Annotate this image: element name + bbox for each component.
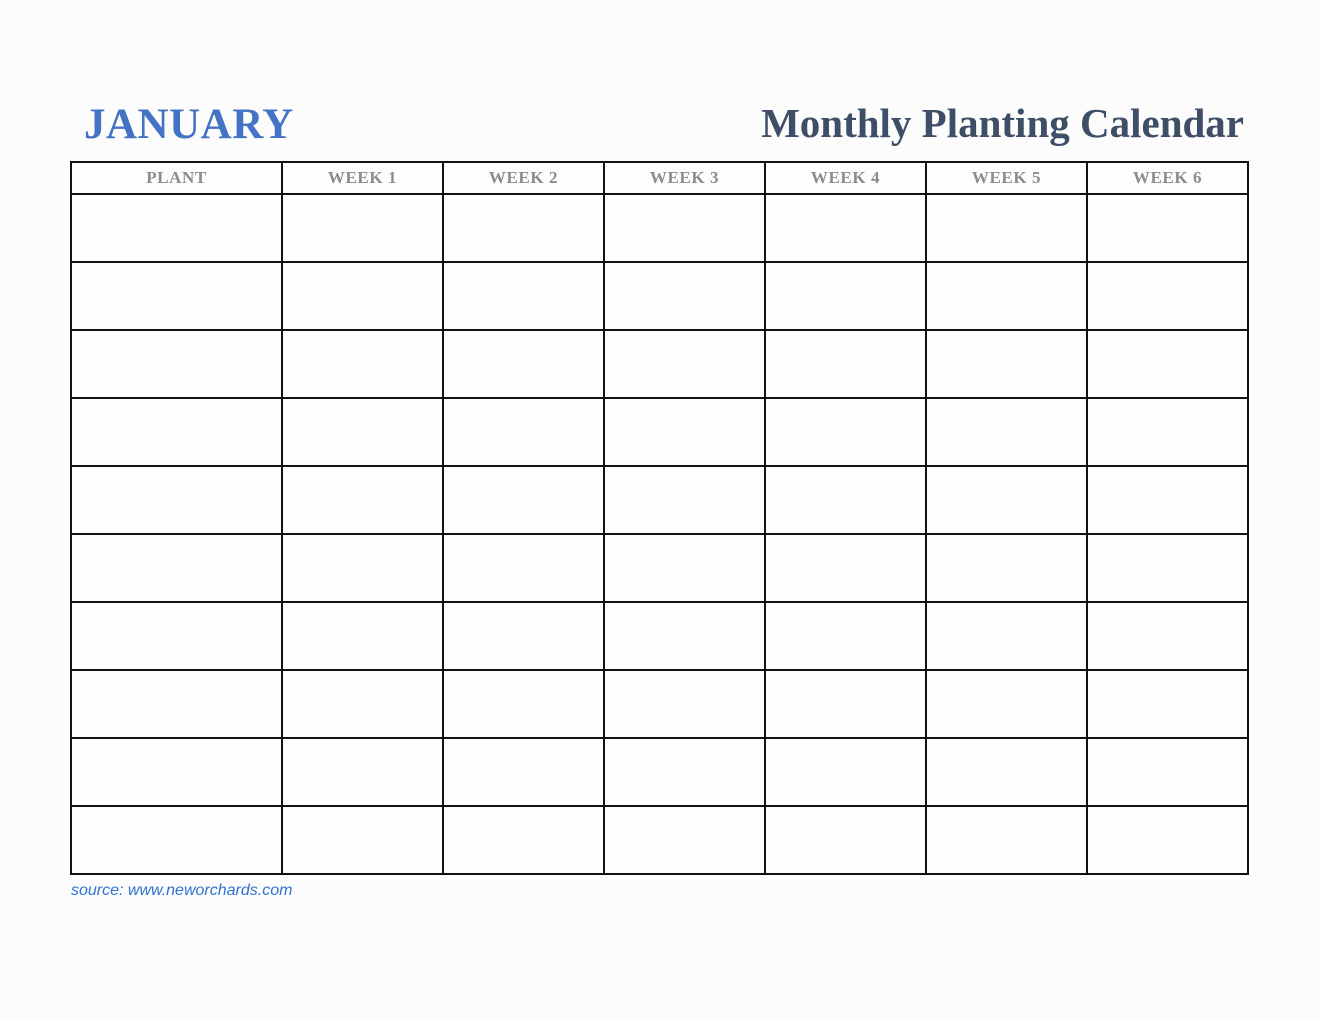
table-row [71, 806, 1248, 874]
column-header-week-3: WEEK 3 [604, 162, 765, 194]
table-header: PLANT WEEK 1 WEEK 2 WEEK 3 WEEK 4 WEEK 5… [71, 162, 1248, 194]
cell-week-5[interactable] [926, 262, 1087, 330]
cell-week-4[interactable] [765, 738, 926, 806]
cell-week-4[interactable] [765, 466, 926, 534]
cell-week-2[interactable] [443, 738, 604, 806]
cell-week-1[interactable] [282, 806, 443, 874]
cell-week-5[interactable] [926, 330, 1087, 398]
cell-week-6[interactable] [1087, 330, 1248, 398]
cell-week-1[interactable] [282, 534, 443, 602]
planting-calendar-table: PLANT WEEK 1 WEEK 2 WEEK 3 WEEK 4 WEEK 5… [70, 161, 1249, 875]
table-header-row: PLANT WEEK 1 WEEK 2 WEEK 3 WEEK 4 WEEK 5… [71, 162, 1248, 194]
cell-week-5[interactable] [926, 738, 1087, 806]
column-header-week-4: WEEK 4 [765, 162, 926, 194]
cell-week-2[interactable] [443, 330, 604, 398]
column-header-plant: PLANT [71, 162, 282, 194]
page-header: JANUARY Monthly Planting Calendar [70, 52, 1248, 148]
cell-week-6[interactable] [1087, 602, 1248, 670]
column-header-week-6: WEEK 6 [1087, 162, 1248, 194]
cell-week-3[interactable] [604, 670, 765, 738]
cell-week-5[interactable] [926, 466, 1087, 534]
cell-week-5[interactable] [926, 806, 1087, 874]
cell-plant[interactable] [71, 194, 282, 262]
cell-week-1[interactable] [282, 670, 443, 738]
cell-week-3[interactable] [604, 466, 765, 534]
cell-week-4[interactable] [765, 602, 926, 670]
cell-week-6[interactable] [1087, 262, 1248, 330]
table-row [71, 602, 1248, 670]
cell-week-1[interactable] [282, 262, 443, 330]
cell-week-3[interactable] [604, 806, 765, 874]
column-header-week-1: WEEK 1 [282, 162, 443, 194]
cell-plant[interactable] [71, 738, 282, 806]
cell-week-2[interactable] [443, 602, 604, 670]
cell-week-3[interactable] [604, 194, 765, 262]
cell-week-1[interactable] [282, 466, 443, 534]
cell-week-5[interactable] [926, 194, 1087, 262]
table-row [71, 398, 1248, 466]
cell-week-2[interactable] [443, 466, 604, 534]
table-row [71, 670, 1248, 738]
calendar-subtitle: Monthly Planting Calendar [761, 103, 1244, 144]
cell-week-3[interactable] [604, 262, 765, 330]
cell-week-4[interactable] [765, 398, 926, 466]
cell-week-6[interactable] [1087, 398, 1248, 466]
cell-week-5[interactable] [926, 398, 1087, 466]
cell-week-6[interactable] [1087, 466, 1248, 534]
column-header-week-5: WEEK 5 [926, 162, 1087, 194]
cell-plant[interactable] [71, 330, 282, 398]
cell-week-4[interactable] [765, 194, 926, 262]
table-row [71, 330, 1248, 398]
planting-calendar-page: JANUARY Monthly Planting Calendar PLANT … [0, 0, 1320, 1020]
cell-week-5[interactable] [926, 602, 1087, 670]
table-body [71, 194, 1248, 874]
table-row [71, 194, 1248, 262]
table-row [71, 262, 1248, 330]
cell-week-1[interactable] [282, 398, 443, 466]
cell-week-3[interactable] [604, 534, 765, 602]
cell-week-1[interactable] [282, 194, 443, 262]
cell-week-3[interactable] [604, 738, 765, 806]
cell-week-3[interactable] [604, 602, 765, 670]
cell-plant[interactable] [71, 466, 282, 534]
cell-plant[interactable] [71, 398, 282, 466]
cell-week-5[interactable] [926, 534, 1087, 602]
cell-plant[interactable] [71, 602, 282, 670]
cell-week-4[interactable] [765, 262, 926, 330]
cell-plant[interactable] [71, 806, 282, 874]
cell-week-4[interactable] [765, 330, 926, 398]
cell-week-4[interactable] [765, 806, 926, 874]
source-note: source: www.neworchards.com [71, 882, 292, 900]
cell-week-3[interactable] [604, 330, 765, 398]
cell-week-6[interactable] [1087, 738, 1248, 806]
cell-week-2[interactable] [443, 262, 604, 330]
table-row [71, 738, 1248, 806]
cell-plant[interactable] [71, 534, 282, 602]
month-title: JANUARY [84, 89, 294, 148]
cell-week-6[interactable] [1087, 194, 1248, 262]
cell-week-1[interactable] [282, 738, 443, 806]
column-header-week-2: WEEK 2 [443, 162, 604, 194]
cell-week-6[interactable] [1087, 534, 1248, 602]
cell-week-1[interactable] [282, 602, 443, 670]
cell-week-3[interactable] [604, 398, 765, 466]
cell-week-6[interactable] [1087, 806, 1248, 874]
cell-week-2[interactable] [443, 534, 604, 602]
cell-week-2[interactable] [443, 398, 604, 466]
cell-week-6[interactable] [1087, 670, 1248, 738]
cell-week-2[interactable] [443, 670, 604, 738]
cell-week-4[interactable] [765, 670, 926, 738]
table-row [71, 466, 1248, 534]
cell-plant[interactable] [71, 670, 282, 738]
cell-week-4[interactable] [765, 534, 926, 602]
cell-week-5[interactable] [926, 670, 1087, 738]
table-row [71, 534, 1248, 602]
cell-plant[interactable] [71, 262, 282, 330]
cell-week-1[interactable] [282, 330, 443, 398]
cell-week-2[interactable] [443, 806, 604, 874]
cell-week-2[interactable] [443, 194, 604, 262]
